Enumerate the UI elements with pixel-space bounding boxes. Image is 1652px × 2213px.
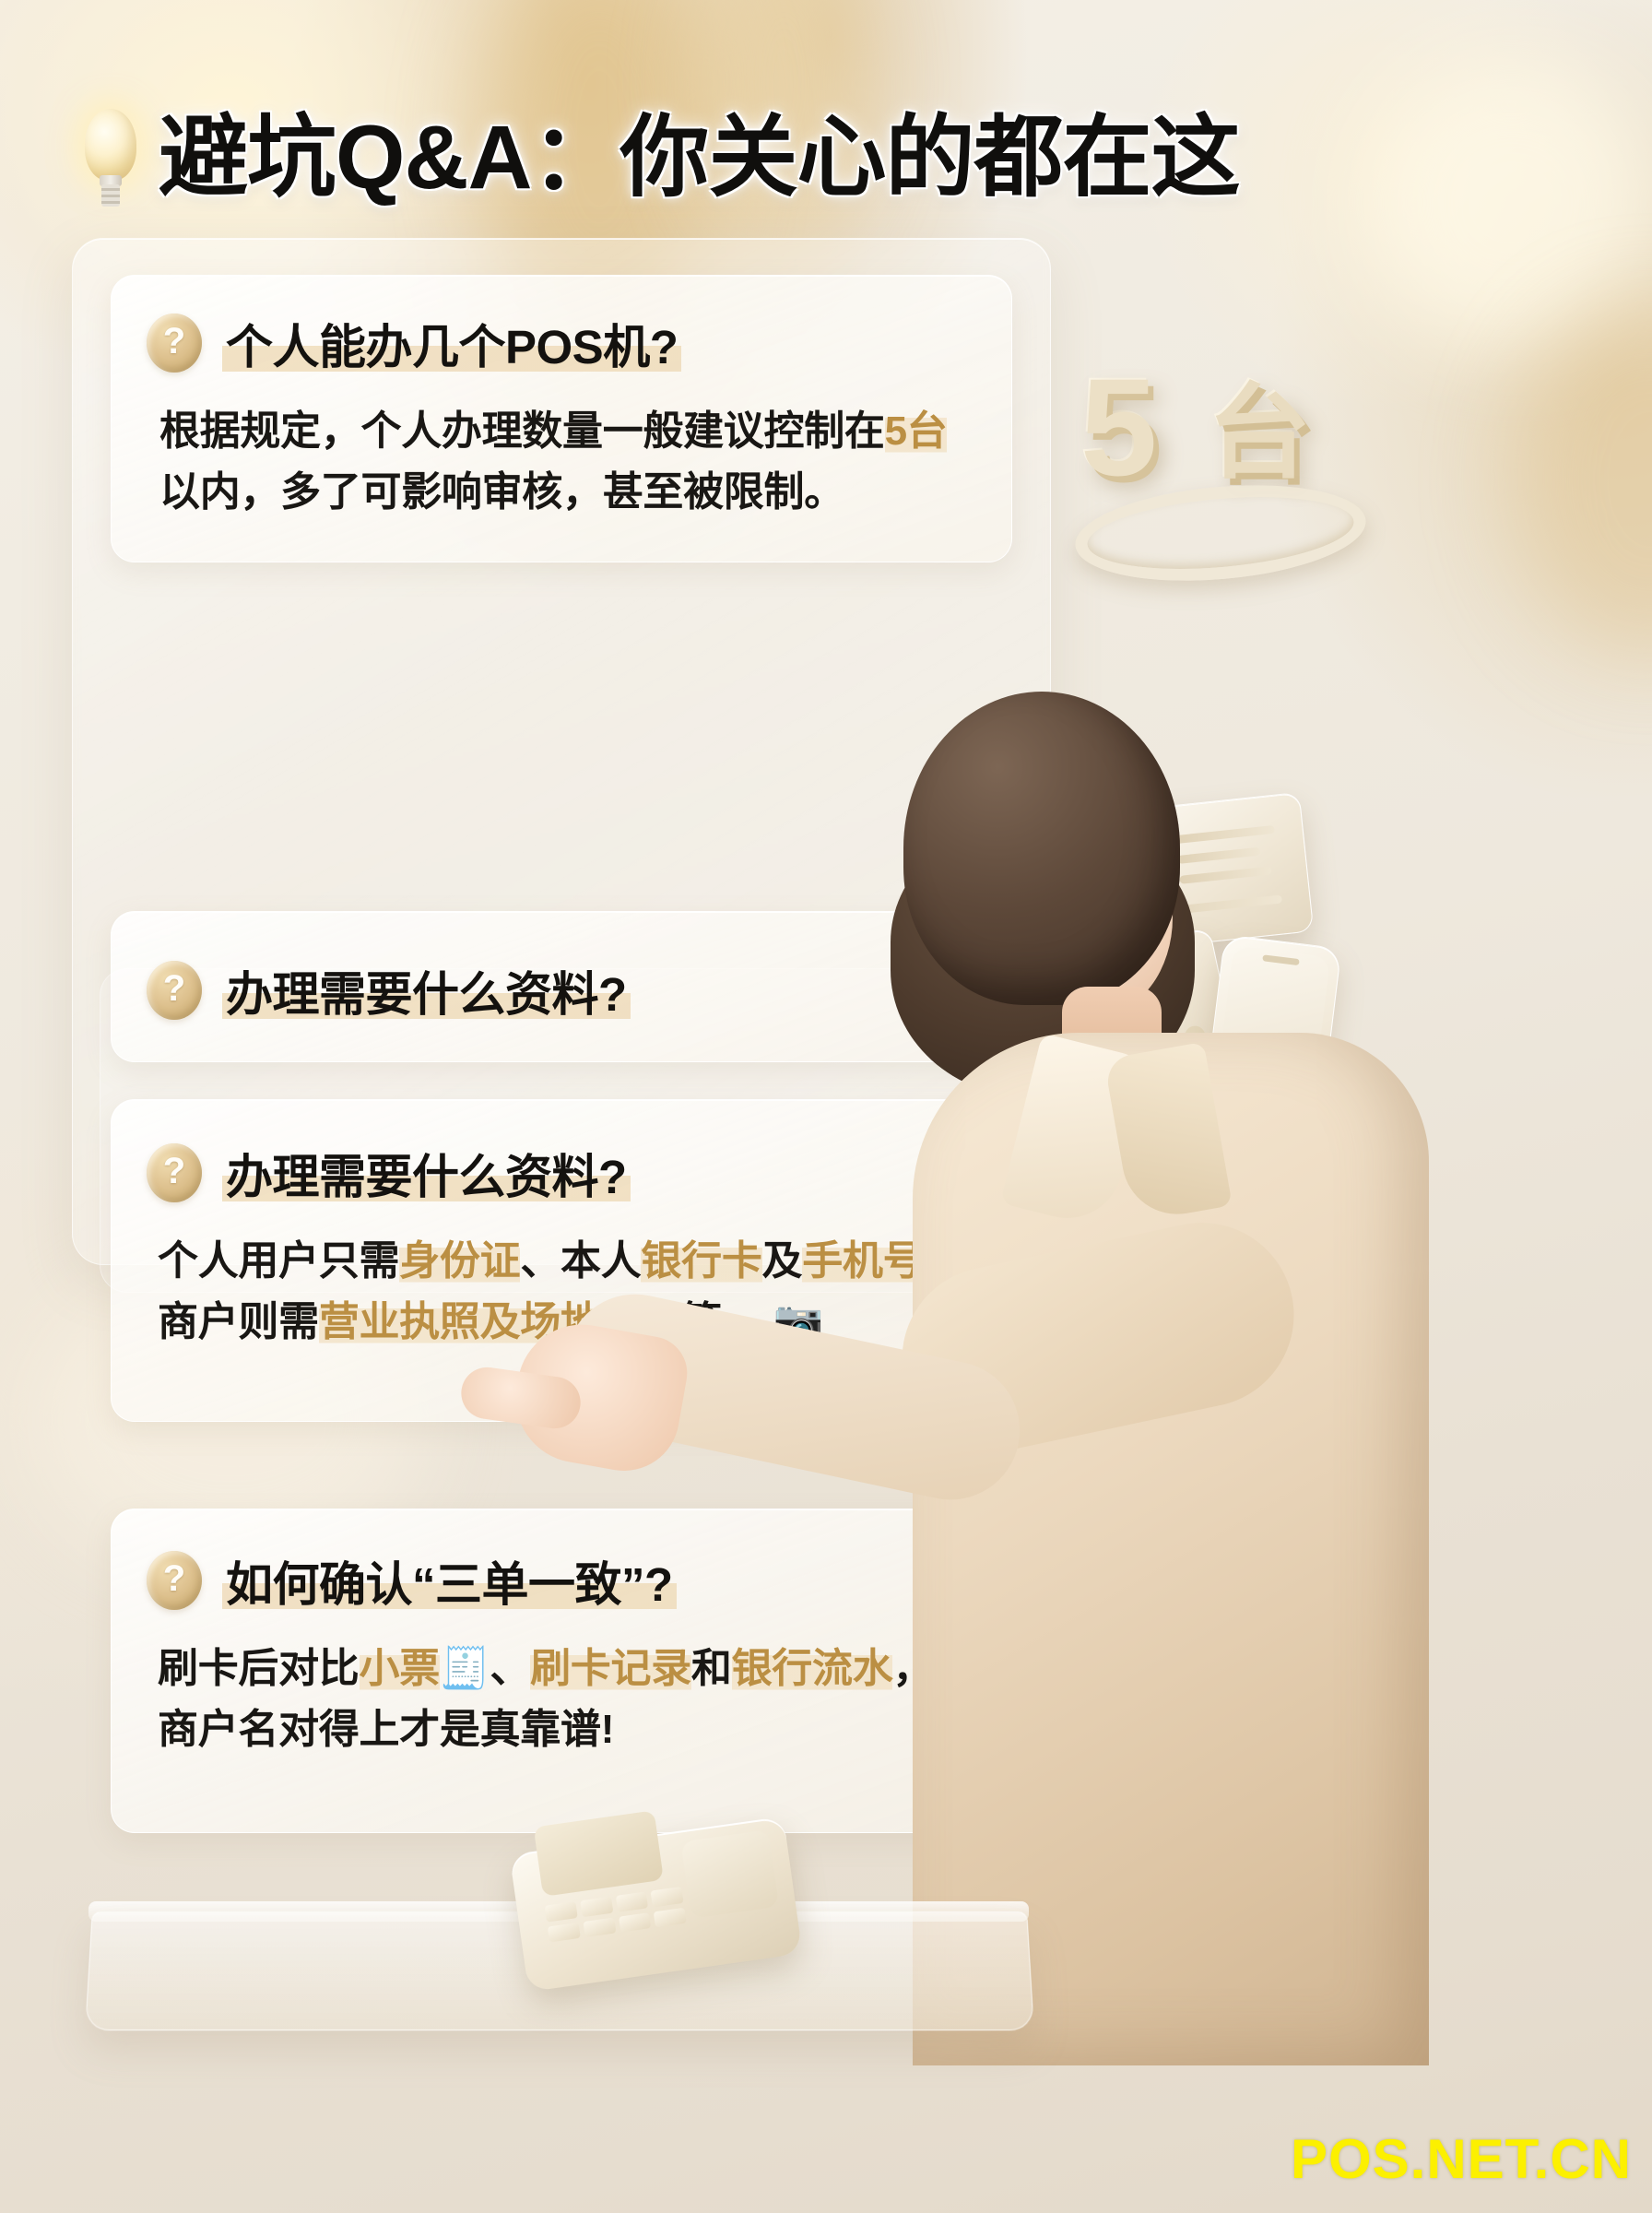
bokeh-blob: [1364, 55, 1652, 350]
lightbulb-icon: [77, 103, 144, 212]
faq-question-row: ? 个人能办几个POS机?: [112, 276, 1011, 377]
faq-answer: 根据规定，个人办理数量一般建议控制在5台以内，多了可影响审核，甚至被限制。: [159, 401, 963, 523]
faq-card[interactable]: ? 个人能办几个POS机? 根据规定，个人办理数量一般建议控制在5台以内，多了可…: [111, 275, 1012, 562]
five-number: 5: [1080, 358, 1157, 496]
bokeh-blob: [1512, 304, 1652, 655]
faq-question: 个人能办几个POS机?: [222, 309, 681, 377]
page-title: 避坑Q&A：你关心的都在这: [159, 112, 1240, 204]
faq-question: 办理需要什么资料?: [222, 956, 631, 1024]
question-badge-icon: ?: [147, 1143, 202, 1202]
five-units-3d-graphic: 5 台: [1069, 367, 1346, 551]
answer-text: 个人用户只需: [158, 1238, 399, 1284]
answer-text: 🧾、: [440, 1646, 530, 1691]
answer-text: 以内，多了可影响审核，甚至被限制。: [159, 469, 844, 515]
question-badge-icon: ?: [147, 961, 202, 1020]
answer-highlight: 身份证: [399, 1238, 520, 1284]
answer-text: 和: [691, 1646, 732, 1691]
question-badge-icon: ?: [147, 1551, 202, 1610]
answer-highlight: 小票: [360, 1646, 440, 1691]
answer-highlight: 5台: [885, 408, 948, 454]
five-unit-label: 台: [1208, 382, 1311, 485]
answer-highlight: 刷卡记录: [530, 1646, 691, 1691]
faq-question: 如何确认“三单一致”?: [222, 1546, 677, 1615]
answer-text: 根据规定，个人办理数量一般建议控制在: [159, 408, 885, 454]
page-header: 避坑Q&A：你关心的都在这: [77, 89, 1184, 227]
answer-highlight: 银行卡: [641, 1238, 761, 1284]
answer-text: 、本人: [520, 1238, 641, 1284]
faq-question: 办理需要什么资料?: [222, 1139, 631, 1207]
watermark: POS.NET.CN: [1291, 2127, 1632, 2191]
answer-text: 及: [762, 1238, 803, 1284]
answer-text: 刷卡后对比: [158, 1646, 360, 1691]
question-badge-icon: ?: [147, 314, 202, 373]
